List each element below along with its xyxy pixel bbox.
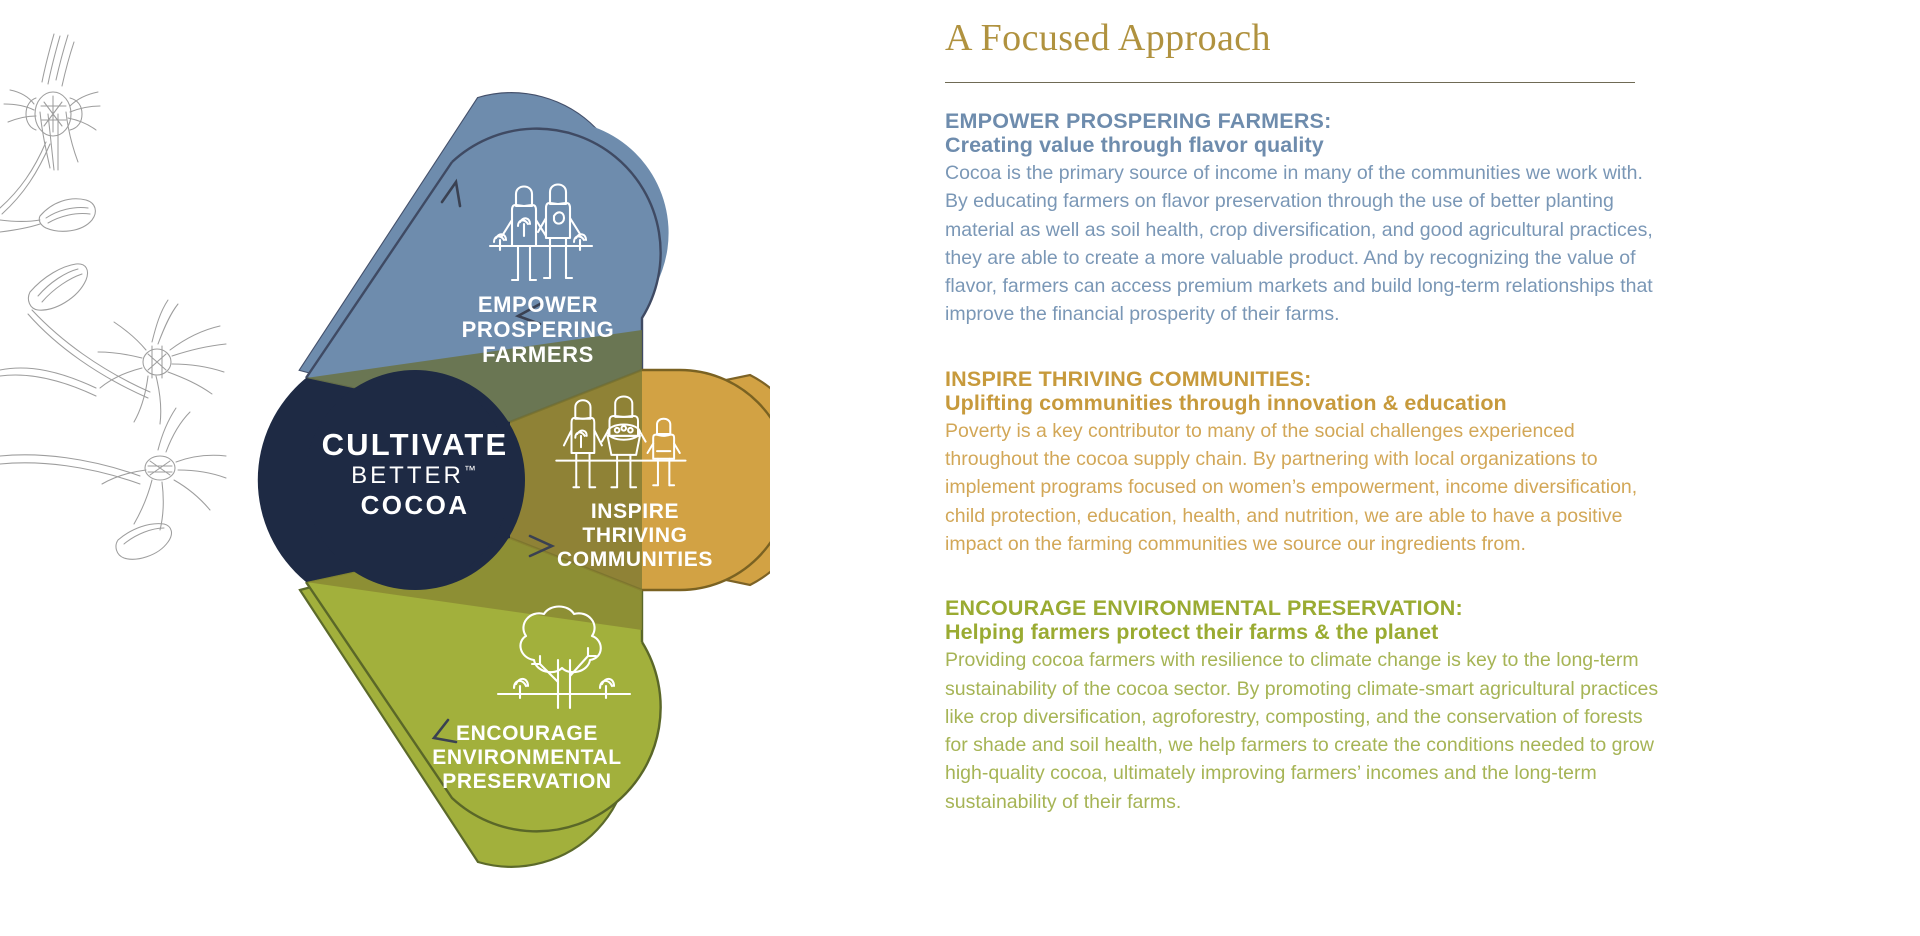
petal-label-inspire: INSPIRE THRIVING COMMUNITIES [528, 500, 742, 572]
section-body: Providing cocoa farmers with resilience … [945, 646, 1663, 816]
section-inspire-thriving-communities: INSPIRE THRIVING COMMUNITIES: Uplifting … [945, 367, 1663, 558]
cultivate-better-cocoa-diagram: EMPOWER PROSPERING FARMERS INSPIRE THRIV… [210, 70, 770, 890]
trademark-icon: ™ [464, 463, 479, 477]
logo-better-word: BETTER [351, 462, 464, 489]
section-subtitle: Creating value through flavor quality [945, 133, 1663, 157]
section-empower-prospering-farmers: EMPOWER PROSPERING FARMERS: Creating val… [945, 109, 1663, 329]
section-subtitle: Helping farmers protect their farms & th… [945, 620, 1663, 644]
title-divider [945, 82, 1635, 83]
section-kicker: EMPOWER PROSPERING FARMERS: [945, 109, 1663, 133]
logo-line-cultivate: CULTIVATE [302, 428, 528, 462]
petal-label-encourage: ENCOURAGE ENVIRONMENTAL PRESERVATION [408, 722, 646, 794]
petal-label-empower: EMPOWER PROSPERING FARMERS [428, 292, 648, 367]
page-root: EMPOWER PROSPERING FARMERS INSPIRE THRIV… [0, 0, 1920, 936]
logo-line-cocoa: COCOA [302, 491, 528, 521]
page-title: A Focused Approach [945, 0, 1685, 60]
section-encourage-environmental-preservation: ENCOURAGE ENVIRONMENTAL PRESERVATION: He… [945, 596, 1663, 816]
section-subtitle: Uplifting communities through innovation… [945, 391, 1663, 415]
focused-approach-panel: A Focused Approach EMPOWER PROSPERING FA… [945, 0, 1685, 936]
section-body: Cocoa is the primary source of income in… [945, 159, 1663, 329]
section-kicker: ENCOURAGE ENVIRONMENTAL PRESERVATION: [945, 596, 1663, 620]
section-kicker: INSPIRE THRIVING COMMUNITIES: [945, 367, 1663, 391]
section-body: Poverty is a key contributor to many of … [945, 417, 1663, 558]
logo-line-better: BETTER™ [302, 462, 528, 491]
center-logo-text: CULTIVATE BETTER™ COCOA [302, 428, 528, 521]
cocoa-flower-botanical-illustration [0, 20, 230, 580]
